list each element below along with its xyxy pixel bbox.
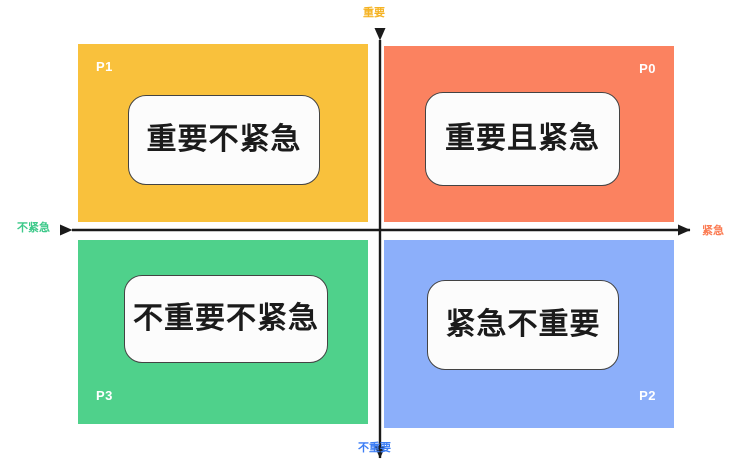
axis-label-not-important: 不重要 (358, 443, 391, 454)
label-box-p0-text: 重要且紧急 (445, 124, 600, 154)
axis-label-not-urgent: 不紧急 (17, 223, 50, 234)
label-box-p0[interactable]: 重要且紧急 (425, 92, 620, 186)
priority-matrix-diagram: P1 P0 P3 P2 重要 不重要 不紧急 紧急 重要不紧急 (0, 0, 734, 470)
axis-label-urgent: 紧急 (702, 226, 724, 237)
label-box-p3[interactable]: 不重要不紧急 (124, 275, 328, 363)
label-box-p1-text: 重要不紧急 (147, 125, 302, 155)
priority-tag-p0: P0 (639, 62, 656, 75)
priority-tag-p1: P1 (96, 60, 113, 73)
label-box-p1[interactable]: 重要不紧急 (128, 95, 320, 185)
priority-tag-p2: P2 (639, 389, 656, 402)
priority-tag-p3: P3 (96, 389, 113, 402)
label-box-p2[interactable]: 紧急不重要 (427, 280, 619, 370)
label-box-p2-text: 紧急不重要 (446, 310, 601, 340)
axis-label-important: 重要 (363, 8, 385, 19)
label-box-p3-text: 不重要不紧急 (133, 304, 319, 334)
